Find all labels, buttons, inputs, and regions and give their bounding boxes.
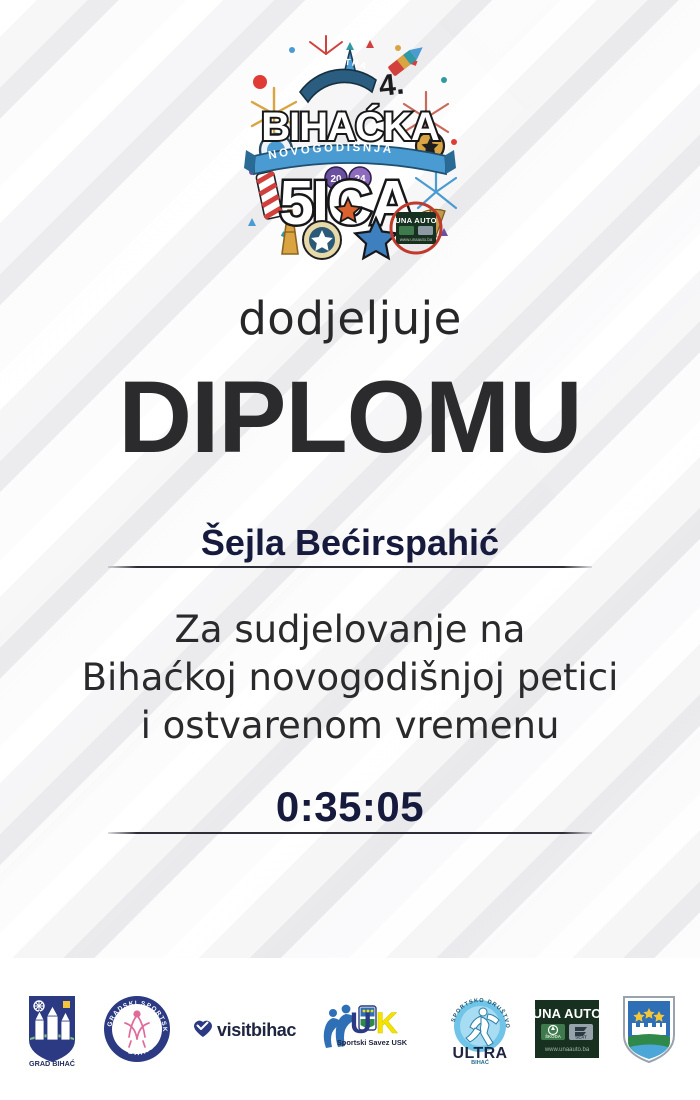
svg-text:ŠKODA: ŠKODA (545, 1034, 562, 1039)
sponsor-caption-grad-bihac: GRAD BIHAĆ (29, 1059, 75, 1068)
svg-text:U: U (350, 1007, 371, 1040)
page-title: DIPLOMU (0, 364, 700, 471)
sponsor-caption-usk: Sportski Savez USK (337, 1038, 408, 1047)
logo-star-medal (303, 221, 341, 259)
certificate-content: SD ULTRA 4. BIHAĆKA NOVOGODIŠNJA (0, 0, 700, 958)
body-line-3: i ostvarenom vremenu (20, 702, 680, 750)
sponsor-logo-visitbihac: visitbihac (191, 1012, 299, 1046)
sponsor-logo-sportski-savez-usk: U K Sportski Savez USK (317, 1000, 427, 1058)
sponsor-logo-grad-bihac: GRAD BIHAĆ (21, 990, 83, 1068)
sponsor-bar: GRAD BIHAĆ (0, 958, 700, 1100)
svg-text:www.unaauto.ba: www.unaauto.ba (400, 237, 433, 242)
heart-icon (194, 1021, 212, 1037)
sponsor-caption-una-auto: UNA AUTO (533, 1006, 601, 1021)
recipient-name-rule (108, 566, 592, 568)
awards-line: dodjeljuje (0, 292, 700, 345)
logo-sd-ultra-badge: SD ULTRA (300, 57, 376, 102)
svg-text:SEAT: SEAT (575, 1035, 587, 1040)
result-time: 0:35:05 (0, 783, 700, 831)
recipient-name: Šejla Bećirspahić (0, 522, 700, 564)
logo-sponsor-badge: UNA AUTO www.unaauto.ba (391, 203, 441, 253)
sponsor-logo-una-auto: UNA AUTO ŠKODA SEAT www.unaauto.ba (533, 998, 601, 1060)
sponsor-logo-gradski-sportski-savez: GRADSKI SPORTSKI SAVEZ BIHAĆ (101, 993, 173, 1065)
logo-edition-number: 4. (377, 68, 405, 103)
svg-text:UNA AUTO: UNA AUTO (395, 216, 437, 225)
sponsor-caption-visitbihac: visitbihac (217, 1020, 296, 1040)
sponsor-subcaption-ultra: BIHAĆ (471, 1058, 489, 1066)
event-logo: SD ULTRA 4. BIHAĆKA NOVOGODIŠNJA (230, 22, 470, 262)
body-text: Za sudjelovanje na Bihaćkoj novogodišnjo… (20, 606, 680, 750)
sponsor-url-una-auto: www.unaauto.ba (544, 1047, 590, 1053)
body-line-1: Za sudjelovanje na (20, 606, 680, 654)
sponsor-logo-usk-canton (619, 993, 679, 1065)
diploma-certificate: SD ULTRA 4. BIHAĆKA NOVOGODIŠNJA (0, 0, 700, 1100)
body-line-2: Bihaćkoj novogodišnjoj petici (20, 654, 680, 702)
svg-text:K: K (376, 1007, 398, 1040)
result-time-rule (108, 832, 592, 834)
sponsor-logo-sd-ultra-bihac: SPORTSKO DRUŠTVO ULTRA BIHAĆ (445, 992, 515, 1066)
